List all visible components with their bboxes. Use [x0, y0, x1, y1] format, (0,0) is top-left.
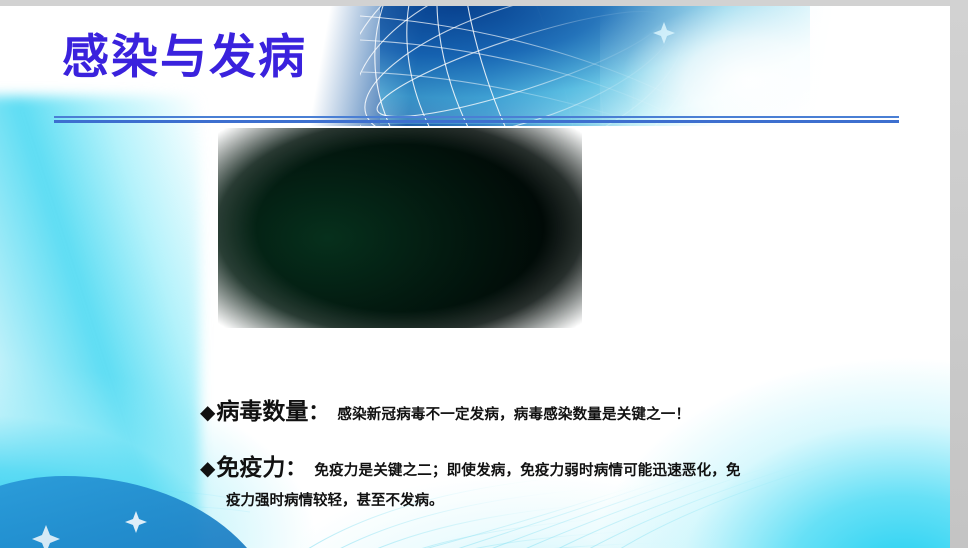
divider-thick-line: [54, 120, 899, 123]
bullet-body-text: 感染新冠病毒不一定发病，病毒感染数量是关键之一！: [337, 407, 690, 423]
bullet-heading-group: ◆病毒数量：: [200, 399, 337, 425]
title-divider-rule: [54, 116, 899, 124]
slide-canvas: 感染与发病: [0, 6, 950, 548]
image-dark-backdrop: [218, 128, 582, 328]
divider-thin-line: [54, 116, 899, 118]
bullet-list: ◆病毒数量： 感染新冠病毒不一定发病，病毒感染数量是关键之一！ ◆免疫力： 免疫…: [200, 392, 840, 532]
bullet-item-immunity: ◆免疫力： 免疫力是关键之二；即使发病，免疫力弱时病情可能迅速恶化，免 疫力强时…: [200, 448, 840, 510]
bullet-heading: 病毒数量: [216, 399, 308, 425]
bullet-colon: ：: [308, 400, 329, 424]
bullet-body-text: 免疫力是关键之二；即使发病，免疫力弱时病情可能迅速恶化，免: [314, 463, 740, 479]
page-title: 感染与发病: [62, 34, 307, 81]
bullet-body-continuation: 疫力强时病情较轻，甚至不发病。: [226, 489, 840, 510]
coronavirus-image: [218, 128, 582, 328]
bullet-heading-group: ◆免疫力：: [200, 455, 314, 481]
bullet-item-virus-count: ◆病毒数量： 感染新冠病毒不一定发病，病毒感染数量是关键之一！: [200, 392, 840, 426]
bullet-diamond-icon: ◆: [200, 456, 215, 480]
bullet-colon: ：: [285, 456, 306, 480]
bullet-diamond-icon: ◆: [200, 400, 215, 424]
slide-window: 感染与发病: [0, 0, 968, 548]
bullet-heading: 免疫力: [216, 455, 285, 481]
